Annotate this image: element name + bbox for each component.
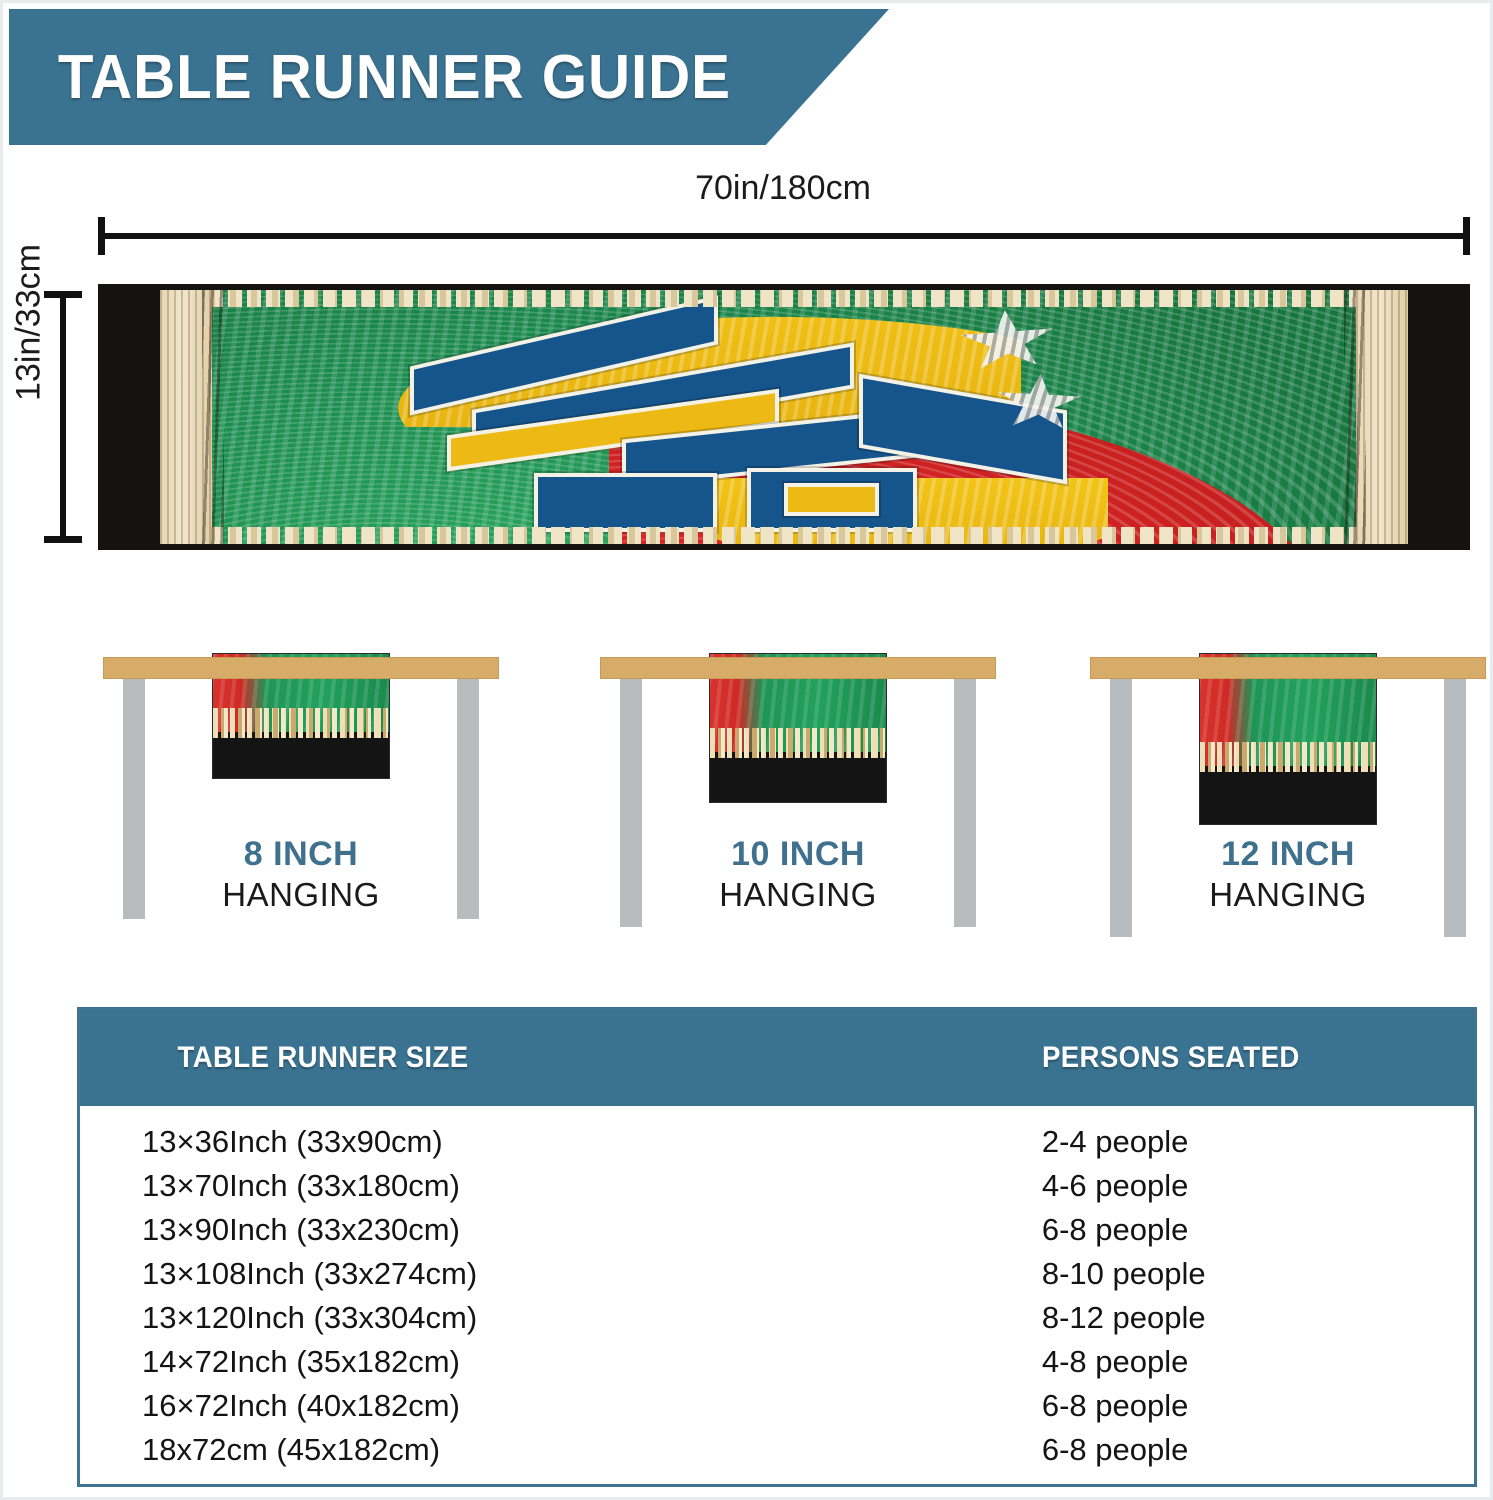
cell-size: 13×70Inch (33x180cm) — [80, 1168, 1042, 1204]
header-banner: TABLE RUNNER GUIDE — [9, 9, 889, 145]
table-row: 18x72cm (45x182cm)6-8 people — [80, 1428, 1474, 1472]
hang-word-12in: HANGING — [1078, 876, 1493, 914]
artwork-top-fringe — [160, 290, 1408, 307]
guide-page: TABLE RUNNER GUIDE 70in/180cm 13in/33cm — [0, 0, 1493, 1500]
cell-persons: 8-10 people — [1042, 1256, 1474, 1292]
hang-label-8in: 8 INCH HANGING — [91, 835, 511, 914]
hanging-panel-8in: 8 INCH HANGING — [91, 639, 511, 939]
table-row: 13×70Inch (33x180cm)4-6 people — [80, 1164, 1474, 1208]
cell-persons: 6-8 people — [1042, 1388, 1474, 1424]
table-row: 14×72Inch (35x182cm)4-8 people — [80, 1340, 1474, 1384]
runner-product-image — [98, 284, 1470, 550]
hang-inch-10in: 10 INCH — [588, 835, 1008, 874]
drape-fray-10in — [710, 728, 886, 758]
cell-size: 13×120Inch (33x304cm) — [80, 1300, 1042, 1336]
table-row: 13×108Inch (33x274cm)8-10 people — [80, 1252, 1474, 1296]
cell-persons: 6-8 people — [1042, 1432, 1474, 1468]
hang-label-12in: 12 INCH HANGING — [1078, 835, 1493, 914]
hang-inch-8in: 8 INCH — [91, 835, 511, 874]
artwork-letter-stroke — [784, 483, 879, 516]
length-caliper-icon — [98, 233, 1470, 239]
cell-size: 13×90Inch (33x230cm) — [80, 1212, 1042, 1248]
hanging-panel-12in: 12 INCH HANGING — [1078, 639, 1493, 939]
cell-size: 18x72cm (45x182cm) — [80, 1432, 1042, 1468]
hang-word-8in: HANGING — [91, 876, 511, 914]
size-table-body: 13×36Inch (33x90cm)2-4 people13×70Inch (… — [80, 1106, 1474, 1472]
hang-inch-12in: 12 INCH — [1078, 835, 1493, 874]
cell-persons: 2-4 people — [1042, 1124, 1474, 1160]
table-row: 13×120Inch (33x304cm)8-12 people — [80, 1296, 1474, 1340]
table-row: 16×72Inch (40x182cm)6-8 people — [80, 1384, 1474, 1428]
cell-size: 16×72Inch (40x182cm) — [80, 1388, 1042, 1424]
hanging-panel-10in: 10 INCH HANGING — [588, 639, 1008, 939]
runner-artwork — [160, 290, 1408, 544]
hang-word-10in: HANGING — [588, 876, 1008, 914]
cell-persons: 8-12 people — [1042, 1300, 1474, 1336]
column-header-size: TABLE RUNNER SIZE — [80, 1041, 965, 1075]
artwork-bottom-fringe — [160, 527, 1408, 544]
hanging-examples: 8 INCH HANGING 10 INCH HANGING — [3, 639, 1493, 939]
cell-size: 13×108Inch (33x274cm) — [80, 1256, 1042, 1292]
column-header-persons: PERSONS SEATED — [1042, 1041, 1440, 1075]
size-table: TABLE RUNNER SIZE PERSONS SEATED 13×36In… — [77, 1007, 1477, 1487]
table-row: 13×90Inch (33x230cm)6-8 people — [80, 1208, 1474, 1252]
length-dimension-label: 70in/180cm — [603, 169, 963, 208]
table-row: 13×36Inch (33x90cm)2-4 people — [80, 1120, 1474, 1164]
drape-fray-12in — [1200, 742, 1376, 772]
hang-label-10in: 10 INCH HANGING — [588, 835, 1008, 914]
cell-size: 14×72Inch (35x182cm) — [80, 1344, 1042, 1380]
tabletop-12in — [1090, 657, 1486, 679]
cell-persons: 4-8 people — [1042, 1344, 1474, 1380]
artwork-letter-stroke — [534, 473, 717, 532]
tabletop-10in — [600, 657, 996, 679]
page-title: TABLE RUNNER GUIDE — [9, 42, 731, 113]
cell-persons: 6-8 people — [1042, 1212, 1474, 1248]
cell-size: 13×36Inch (33x90cm) — [80, 1124, 1042, 1160]
artwork-right-edge — [1356, 290, 1408, 544]
width-dimension-label: 13in/33cm — [10, 203, 49, 443]
artwork-left-edge — [160, 290, 212, 544]
cell-persons: 4-6 people — [1042, 1168, 1474, 1204]
size-table-header: TABLE RUNNER SIZE PERSONS SEATED — [80, 1010, 1474, 1106]
width-caliper-icon — [60, 291, 66, 543]
drape-fray-8in — [213, 708, 389, 738]
tabletop-8in — [103, 657, 499, 679]
